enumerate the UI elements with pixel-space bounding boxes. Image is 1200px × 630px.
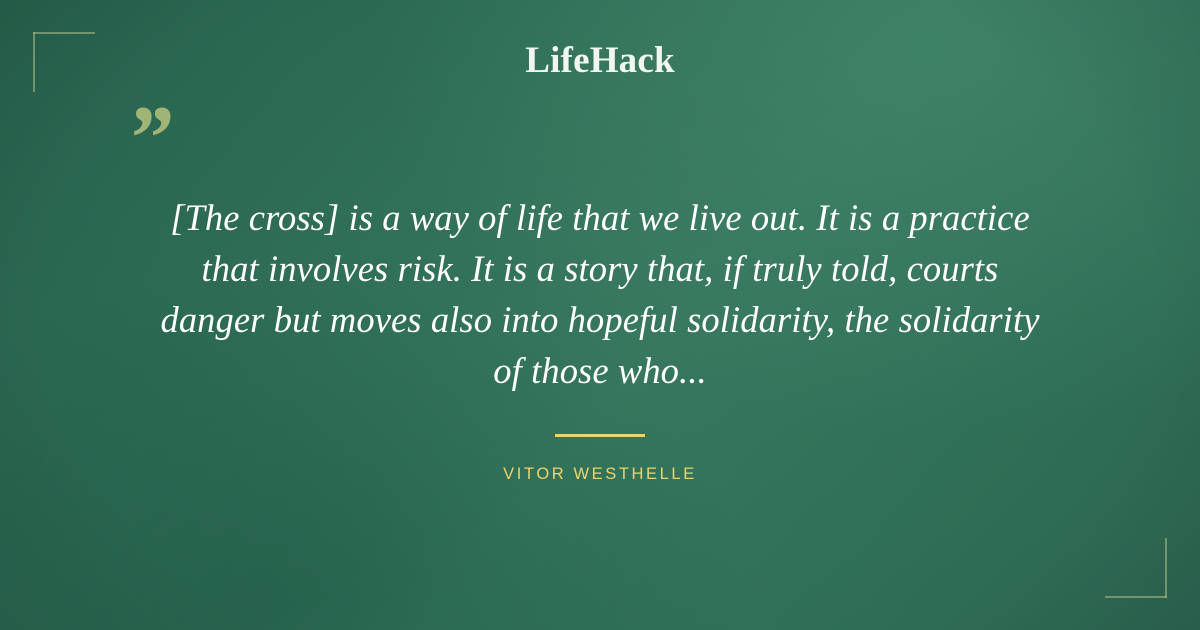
quote-text: [The cross] is a way of life that we liv… [96,192,1104,396]
quote-line: danger but moves also into hopeful solid… [96,294,1104,345]
quote-author: VITOR WESTHELLE [0,465,1200,484]
bracket-vertical-rule [1165,538,1167,598]
quote-card: LifeHack ” [The cross] is a way of life … [0,0,1200,630]
quote-line: of those who... [96,345,1104,396]
bracket-horizontal-rule [33,32,95,34]
author-divider [555,434,645,437]
corner-bracket-bottom-right [1105,538,1167,598]
brand-logo: LifeHack [0,39,1200,82]
quotation-mark-icon: ” [126,92,170,184]
quote-line: [The cross] is a way of life that we liv… [96,192,1104,243]
quote-line: that involves risk. It is a story that, … [96,243,1104,294]
bracket-horizontal-rule [1105,596,1167,598]
